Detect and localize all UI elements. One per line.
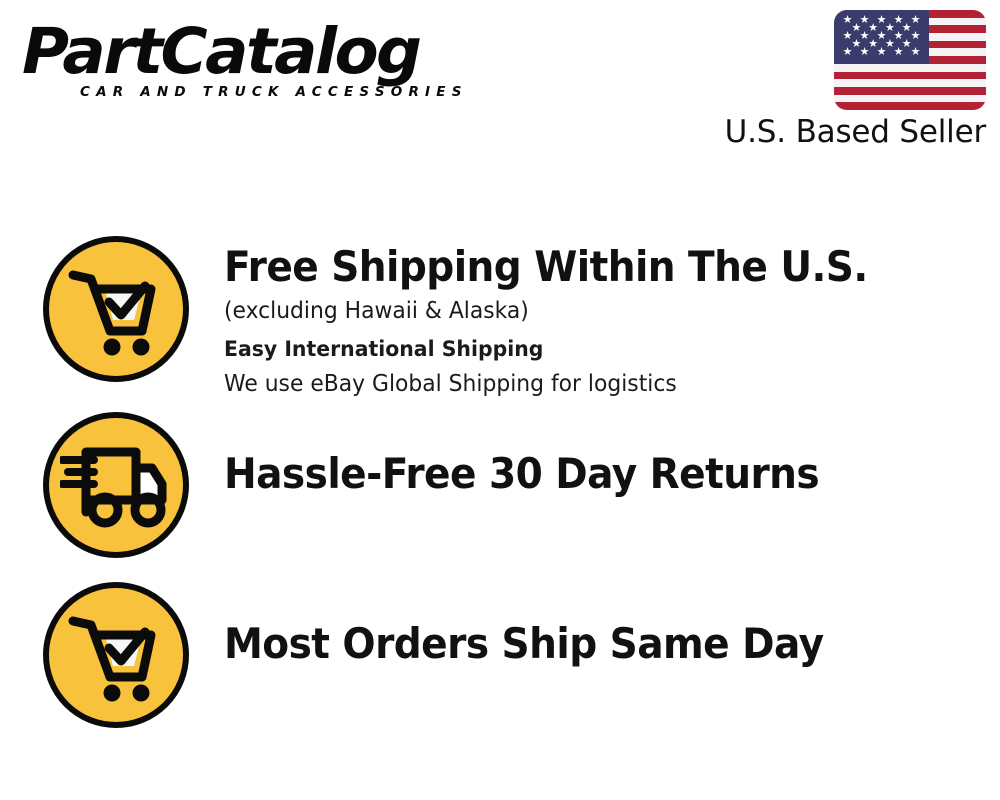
feature-subtitle-logistics: We use eBay Global Shipping for logistic… — [224, 369, 882, 399]
brand-logo: PartCatalog CAR AND TRUCK ACCESSORIES — [22, 18, 492, 118]
flag-stripe — [834, 95, 986, 103]
feature-text-block: Hassle-Free 30 Day Returns — [224, 412, 864, 499]
feature-title: Most Orders Ship Same Day — [224, 619, 824, 669]
shopping-cart-check-icon — [43, 582, 189, 728]
feature-text-block: Most Orders Ship Same Day — [224, 582, 869, 669]
flag-star-icon: ★ — [843, 47, 853, 58]
feature-text-block: Free Shipping Within The U.S. (excluding… — [224, 236, 916, 399]
flag-stripe — [834, 87, 986, 95]
promo-banner: PartCatalog CAR AND TRUCK ACCESSORIES — [0, 0, 1000, 800]
flag-canton: ★ ★ ★ ★ ★ ★ ★ ★ ★ ★ ★ ★ ★ ★ — [834, 10, 929, 64]
feature-title: Free Shipping Within The U.S. — [224, 242, 868, 292]
us-based-seller-badge: ★ ★ ★ ★ ★ ★ ★ ★ ★ ★ ★ ★ ★ ★ — [716, 10, 986, 150]
feature-title: Hassle-Free 30 Day Returns — [224, 449, 819, 499]
shopping-cart-check-icon — [43, 236, 189, 382]
flag-star-icon: ★ — [911, 15, 921, 26]
feature-row: Most Orders Ship Same Day — [0, 582, 1000, 728]
flag-stripe — [834, 79, 986, 87]
feature-row: Free Shipping Within The U.S. (excluding… — [0, 236, 1000, 399]
flag-stripe — [834, 72, 986, 80]
flag-stripe — [834, 102, 986, 110]
brand-wordmark: PartCatalog — [22, 18, 501, 86]
flag-stripe — [834, 64, 986, 72]
feature-subtitle-exclusion: (excluding Hawaii & Alaska) — [224, 296, 882, 326]
flag-star-icon: ★ — [894, 47, 904, 58]
flag-star-icon: ★ — [877, 47, 887, 58]
us-flag-icon: ★ ★ ★ ★ ★ ★ ★ ★ ★ ★ ★ ★ ★ ★ — [834, 10, 986, 110]
feature-row: Hassle-Free 30 Day Returns — [0, 412, 1000, 558]
flag-star-icon: ★ — [911, 31, 921, 42]
us-based-seller-label: U.S. Based Seller — [716, 114, 986, 150]
flag-star-row: ★ ★ ★ ★ ★ — [839, 49, 924, 57]
delivery-truck-icon — [43, 412, 189, 558]
feature-subtitle-international: Easy International Shipping — [224, 335, 882, 365]
flag-star-icon: ★ — [860, 47, 870, 58]
flag-star-icon: ★ — [911, 47, 921, 58]
